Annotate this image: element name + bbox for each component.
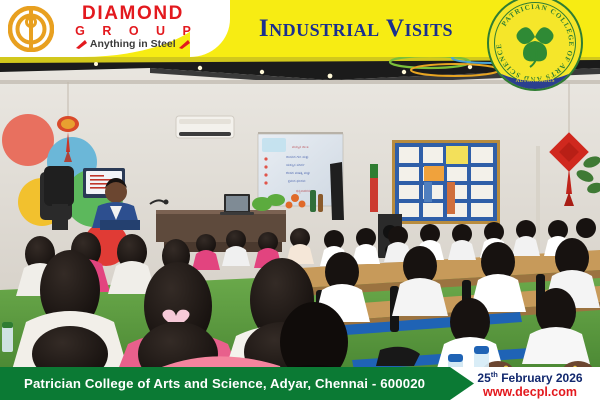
footer-contact-block: 25th February 2026 www.decpl.com [466,367,594,400]
svg-text:ಶ್ರಮದ ಫಲಗಳು: ಶ್ರಮದ ಫಲಗಳು [288,179,306,183]
brand-text: DIAMOND G R O U P Anything in Steel [58,4,208,51]
event-photo: ಮನಸ್ಸಿನ ಶಾಂತಿ ಜೀವನದ ಗುರಿ ಮತ್ತು ಯಶಸ್ಸಿನ ಮ… [0,54,600,367]
red-flag-icon [179,40,190,48]
brand-name-line1: DIAMOND [58,4,208,24]
patrician-college-seal-icon: PATRICIAN COLLEGE OF ARTS AND SCIENCE AU… [487,0,583,91]
svg-text:ಜೀವನದ ಗುರಿ ಮತ್ತು: ಜೀವನದ ಗುರಿ ಮತ್ತು [286,155,309,159]
diamond-group-circular-emblem-icon [8,6,54,52]
red-flag-icon [76,40,87,48]
svg-text:AUTONOMOUS: AUTONOMOUS [515,78,554,84]
banner-footer: Patrician College of Arts and Science, A… [0,367,600,400]
banner-frame: ಮನಸ್ಸಿನ ಶಾಂತಿ ಜೀವನದ ಗುರಿ ಮತ್ತು ಯಶಸ್ಸಿನ ಮ… [0,0,600,400]
brand-tagline-row: Anything in Steel [58,38,208,51]
brand-tagline: Anything in Steel [90,38,176,50]
website-link[interactable]: www.decpl.com [483,385,577,399]
event-date: 25th February 2026 [477,368,582,385]
brand-logo: DIAMOND G R O U P Anything in Steel [6,3,206,55]
brand-name-line2: G R O U P [58,24,208,38]
event-date-month-year: February 2026 [498,371,583,385]
event-date-ordinal: th [491,370,498,379]
svg-text:ಮನಸ್ಸಿನ ಶಾಂತಿ: ಮನಸ್ಸಿನ ಶಾಂತಿ [292,145,309,149]
svg-text:ಯಶಸ್ಸಿನ ಮಾರ್ಗ: ಯಶಸ್ಸಿನ ಮಾರ್ಗ [286,163,305,167]
event-date-day: 25 [477,371,490,385]
footer-college-text: Patrician College of Arts and Science, A… [0,367,450,400]
page-title: Industrial Visits [206,0,506,57]
